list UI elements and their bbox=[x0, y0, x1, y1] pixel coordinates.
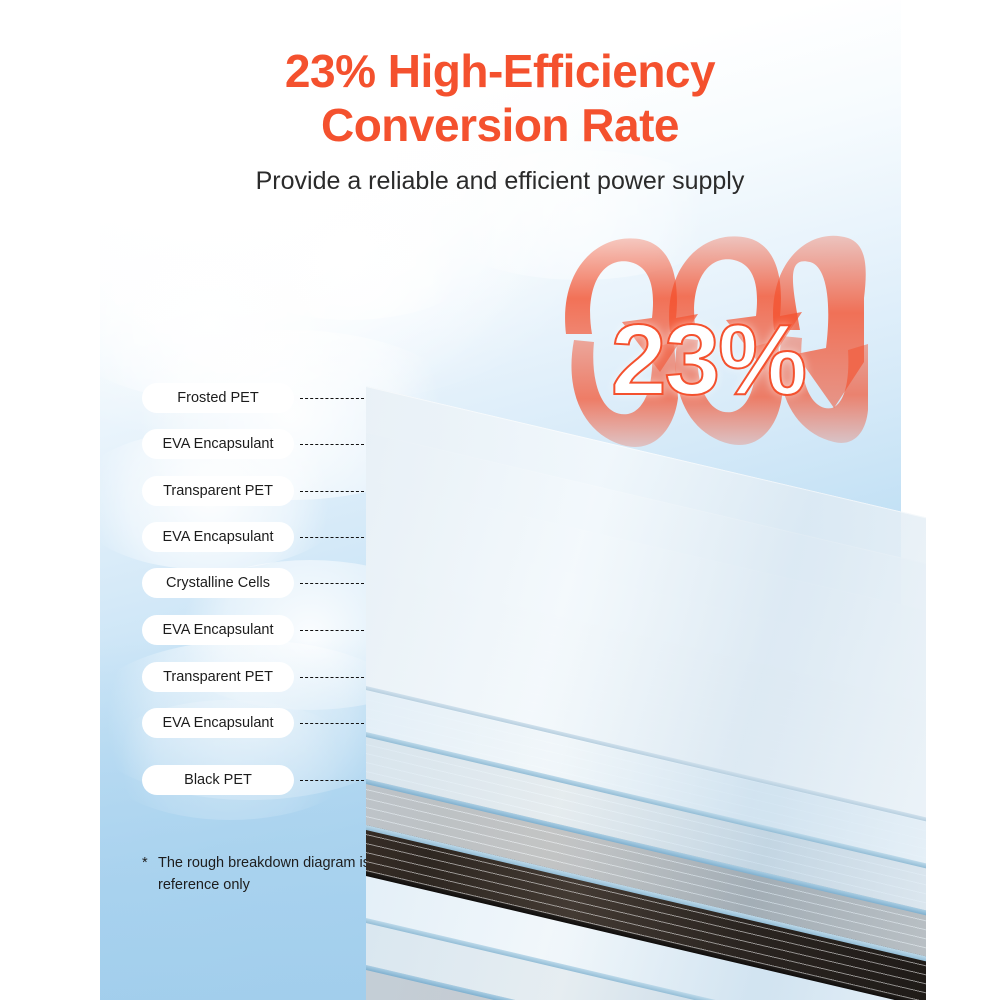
footnote-marker: * bbox=[142, 852, 148, 874]
layer-connector-line bbox=[300, 537, 364, 538]
layer-label-transparent-pet[interactable]: Transparent PET bbox=[142, 662, 294, 692]
layer-label-frosted-pet[interactable]: Frosted PET bbox=[142, 383, 294, 413]
layer-label-text: Black PET bbox=[184, 772, 252, 788]
layer-label-text: Frosted PET bbox=[177, 390, 258, 406]
layer-label-eva-encapsulant[interactable]: EVA Encapsulant bbox=[142, 708, 294, 738]
layer-label-text: Transparent PET bbox=[163, 483, 273, 499]
layer-label-transparent-pet[interactable]: Transparent PET bbox=[142, 476, 294, 506]
layer-label-text: EVA Encapsulant bbox=[163, 529, 274, 545]
layer-label-text: Transparent PET bbox=[163, 669, 273, 685]
layer-label-text: EVA Encapsulant bbox=[163, 622, 274, 638]
layer-label-black-pet[interactable]: Black PET bbox=[142, 765, 294, 795]
layer-connector-line bbox=[300, 723, 364, 724]
layer-label-text: EVA Encapsulant bbox=[163, 715, 274, 731]
layer-connector-line bbox=[300, 630, 364, 631]
layer-connector-line bbox=[300, 583, 364, 584]
layer-label-text: EVA Encapsulant bbox=[163, 436, 274, 452]
layer-label-eva-encapsulant[interactable]: EVA Encapsulant bbox=[142, 429, 294, 459]
layer-connector-line bbox=[300, 677, 364, 678]
layer-label-eva-encapsulant[interactable]: EVA Encapsulant bbox=[142, 615, 294, 645]
efficiency-value: 23% bbox=[548, 308, 868, 412]
infographic-canvas: 23% High-Efficiency Conversion Rate Prov… bbox=[0, 0, 1000, 1000]
layer-connector-line bbox=[300, 780, 364, 781]
layer-connector-line bbox=[300, 491, 364, 492]
layer-connector-line bbox=[300, 398, 364, 399]
layer-label-eva-encapsulant[interactable]: EVA Encapsulant bbox=[142, 522, 294, 552]
layer-label-crystalline-cells[interactable]: Crystalline Cells bbox=[142, 568, 294, 598]
layer-label-text: Crystalline Cells bbox=[166, 575, 270, 591]
layer-connector-line bbox=[300, 444, 364, 445]
